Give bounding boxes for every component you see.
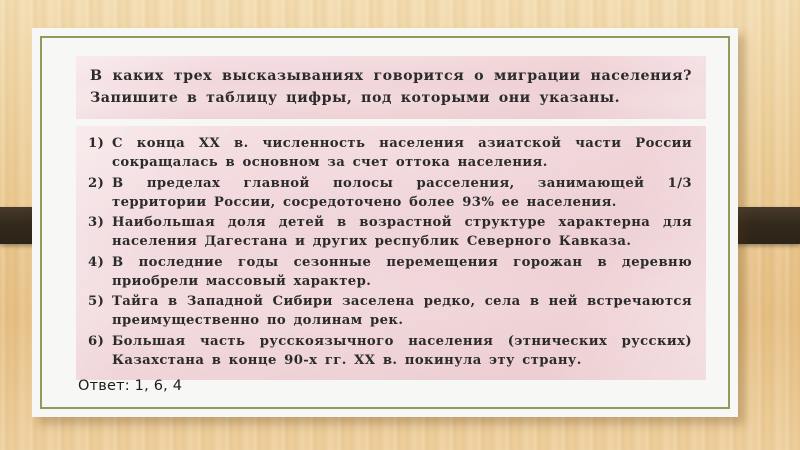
list-item: 4) В последние годы сезонные перемещения… <box>86 253 692 292</box>
list-item: 5) Тайга в Западной Сибири заселена редк… <box>86 292 692 331</box>
list-item: 6) Большая часть русскоязычного населени… <box>86 332 692 371</box>
answer-line: Ответ: 1, 6, 4 <box>78 378 182 394</box>
list-item-marker: 2) <box>88 174 110 193</box>
list-item-text: В пределах главной полосы расселения, за… <box>112 174 692 213</box>
statements-block: 1) С конца XX в. численность населения а… <box>76 126 706 380</box>
list-item-marker: 4) <box>88 253 110 272</box>
list-item: 3) Наибольшая доля детей в возрастной ст… <box>86 213 692 252</box>
list-item-text: С конца XX в. численность населения азиа… <box>112 134 692 173</box>
list-item-text: Наибольшая доля детей в возрастной струк… <box>112 213 692 252</box>
list-item: 1) С конца XX в. численность населения а… <box>86 134 692 173</box>
list-item-text: Большая часть русскоязычного населения (… <box>112 332 692 371</box>
list-item-marker: 3) <box>88 213 110 232</box>
list-item-marker: 6) <box>88 332 110 351</box>
slide-root: В каких трех высказываниях говорится о м… <box>0 0 800 450</box>
slide-inner-frame: В каких трех высказываниях говорится о м… <box>40 36 730 409</box>
list-item-marker: 5) <box>88 292 110 311</box>
slide-card: В каких трех высказываниях говорится о м… <box>32 28 738 417</box>
statement-list: 1) С конца XX в. численность населения а… <box>86 134 692 370</box>
question-text: В каких трех высказываниях говорится о м… <box>90 68 692 106</box>
question-prompt-block: В каких трех высказываниях говорится о м… <box>76 56 706 119</box>
list-item-text: В последние годы сезонные перемещения го… <box>112 253 692 292</box>
list-item-marker: 1) <box>88 134 110 153</box>
list-item: 2) В пределах главной полосы расселения,… <box>86 174 692 213</box>
list-item-text: Тайга в Западной Сибири заселена редко, … <box>112 292 692 331</box>
